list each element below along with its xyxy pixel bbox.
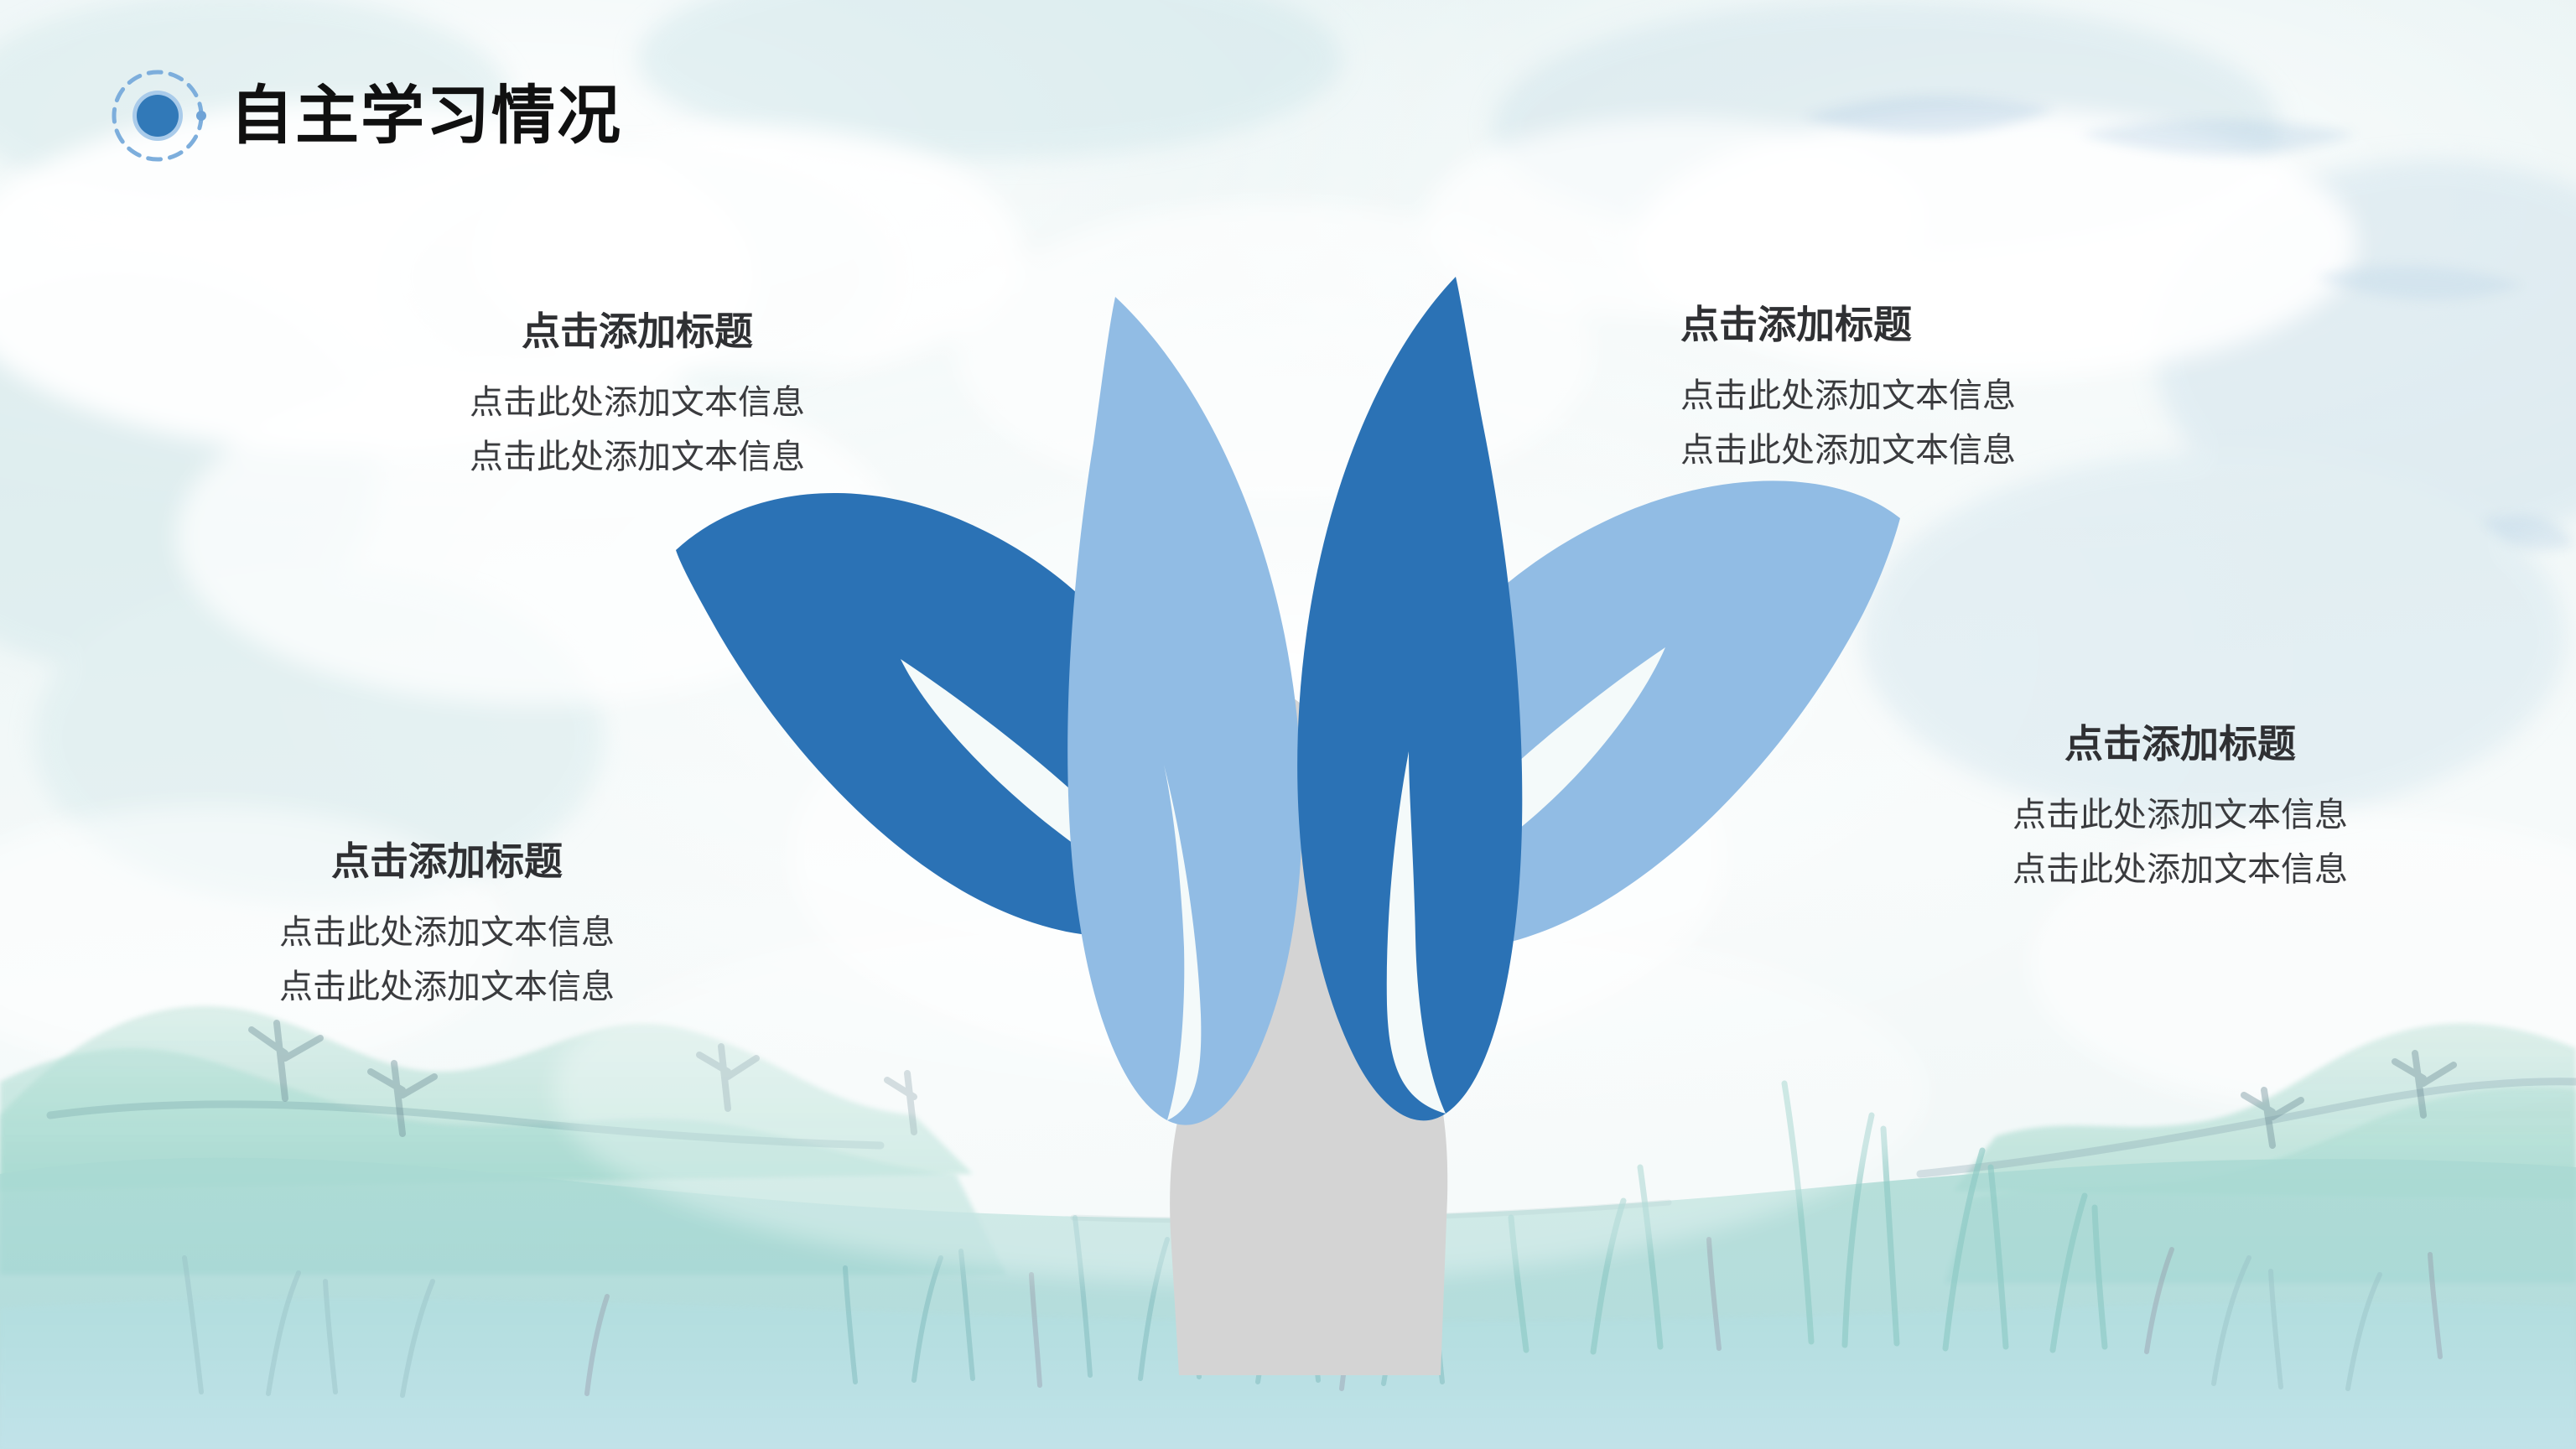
block-heading: 点击添加标题 [208,839,686,884]
block-heading: 点击添加标题 [402,309,872,354]
text-block-top-right: 点击添加标题 点击此处添加文本信息 点击此处添加文本信息 [1680,302,2150,478]
block-heading: 点击添加标题 [1945,721,2415,766]
block-line: 点击此处添加文本信息 [1680,369,2150,423]
leaf-upper-right [1297,277,1522,1120]
block-line: 点击此处添加文本信息 [208,960,686,1015]
block-line: 点击此处添加文本信息 [402,376,872,430]
block-line: 点击此处添加文本信息 [1680,423,2150,478]
page-title: 自主学习情况 [230,84,622,148]
slide-canvas: 自主学习情况 [0,0,2576,1449]
text-block-top-left: 点击添加标题 点击此处添加文本信息 点击此处添加文本信息 [402,309,872,485]
block-line: 点击此处添加文本信息 [1945,788,2415,843]
block-line: 点击此处添加文本信息 [1945,843,2415,897]
block-line: 点击此处添加文本信息 [208,906,686,960]
leaf-upper-left [1067,297,1302,1125]
text-block-bottom-right: 点击添加标题 点击此处添加文本信息 点击此处添加文本信息 [1945,721,2415,897]
block-line: 点击此处添加文本信息 [402,430,872,485]
dashed-circle-dot-icon [107,65,208,166]
text-block-bottom-left: 点击添加标题 点击此处添加文本信息 点击此处添加文本信息 [208,839,686,1015]
block-heading: 点击添加标题 [1680,302,2150,347]
slide-header: 自主学习情况 [107,65,622,166]
